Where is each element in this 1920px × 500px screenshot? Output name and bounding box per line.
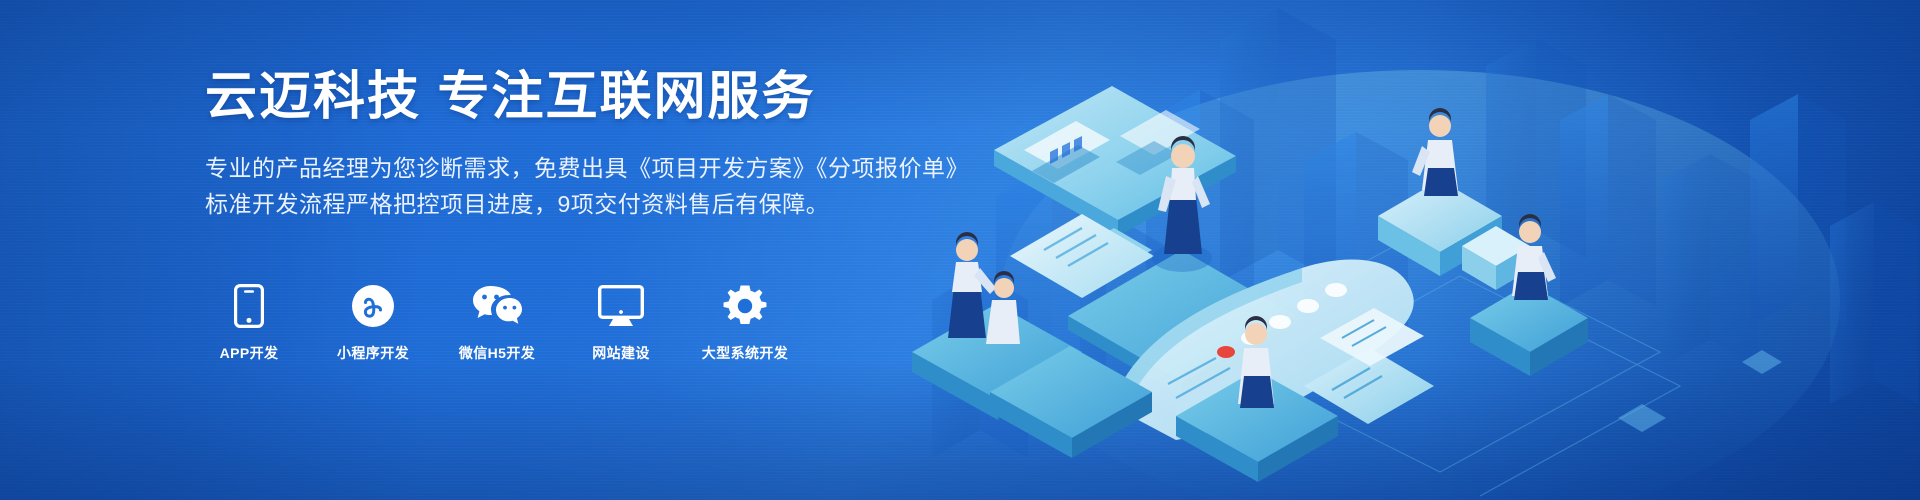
service-label: APP开发 [220,343,279,363]
service-item-miniprogram[interactable]: 小程序开发 [324,283,422,363]
service-label: 小程序开发 [337,343,409,363]
service-list: APP开发 小程序开发 微信 [200,283,794,363]
hero-subtitle: 专业的产品经理为您诊断需求，免费出具《项目开发方案》《分项报价单》 标准开发流程… [205,150,1105,222]
service-item-large-system[interactable]: 大型系统开发 [696,283,794,363]
service-label: 网站建设 [592,343,650,363]
wechat-icon [471,283,523,329]
mobile-phone-icon [234,283,264,329]
service-item-website[interactable]: 网站建设 [572,283,670,363]
mini-program-icon [351,283,395,329]
hero-copy: 云迈科技 专注互联网服务 专业的产品经理为您诊断需求，免费出具《项目开发方案》《… [205,66,1105,222]
service-label: 微信H5开发 [459,343,535,363]
service-item-app[interactable]: APP开发 [200,283,298,363]
gear-icon [723,283,767,329]
hero-banner: 云迈科技 专注互联网服务 专业的产品经理为您诊断需求，免费出具《项目开发方案》《… [0,0,1920,500]
service-item-wechat-h5[interactable]: 微信H5开发 [448,283,546,363]
monitor-icon [598,283,644,329]
subtitle-line-1: 专业的产品经理为您诊断需求，免费出具《项目开发方案》《分项报价单》 [205,150,1105,186]
page-title: 云迈科技 专注互联网服务 [205,66,1105,128]
subtitle-line-2: 标准开发流程严格把控项目进度，9项交付资料售后有保障。 [205,186,1105,222]
service-label: 大型系统开发 [702,343,788,363]
